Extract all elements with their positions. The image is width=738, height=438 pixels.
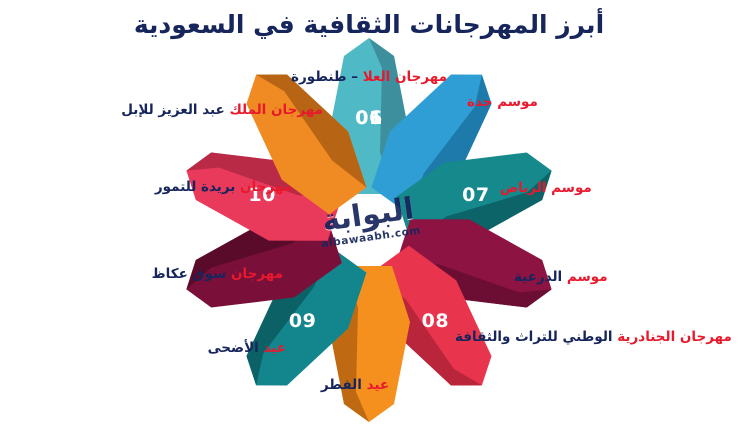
label-08-highlight: مهرجان — [226, 266, 283, 282]
label-05-highlight: مهرجان الجنادرية — [613, 329, 732, 345]
label-04-highlight: موسم — [562, 269, 607, 285]
label-03-highlight: موسم الرياض — [500, 180, 592, 196]
label-07-rest: الأضحى — [208, 340, 259, 356]
label-02-highlight: موسم جدة — [467, 94, 538, 110]
label-04: موسم الدرعية — [514, 270, 608, 285]
label-10-highlight: مهرجان الملك — [225, 102, 323, 118]
label-01: مهرجان العلا – طنطورة — [291, 70, 447, 85]
label-07: عيد الأضحى — [208, 341, 286, 356]
infographic-canvas: أبرز المهرجانات الثقافية في السعودية 010… — [0, 0, 738, 405]
label-03: موسم الرياض — [500, 181, 592, 196]
label-04-rest: الدرعية — [514, 269, 562, 285]
label-06: عيد الفطر — [321, 378, 389, 393]
label-08-rest: سوق عكاظ — [152, 266, 227, 282]
label-09-rest: بريدة للتمور — [155, 179, 235, 195]
label-05-rest: الوطني للتراث والثقافة — [455, 329, 613, 345]
label-08: مهرجان سوق عكاظ — [152, 267, 283, 282]
label-09-highlight: مهرجان — [235, 179, 292, 195]
label-01-highlight: مهرجان العلا — [363, 69, 447, 85]
label-10: مهرجان الملك عبد العزيز للإبل — [121, 103, 323, 118]
label-02: موسم جدة — [467, 95, 538, 110]
label-09: مهرجان بريدة للتمور — [155, 180, 292, 195]
label-05: مهرجان الجنادرية الوطني للتراث والثقافة — [455, 330, 732, 345]
label-07-highlight: عيد — [259, 340, 286, 356]
label-06-highlight: عيد — [362, 377, 389, 393]
label-10-rest: عبد العزيز للإبل — [121, 102, 225, 118]
label-01-rest: – طنطورة — [291, 69, 363, 85]
label-06-rest: الفطر — [321, 377, 362, 393]
